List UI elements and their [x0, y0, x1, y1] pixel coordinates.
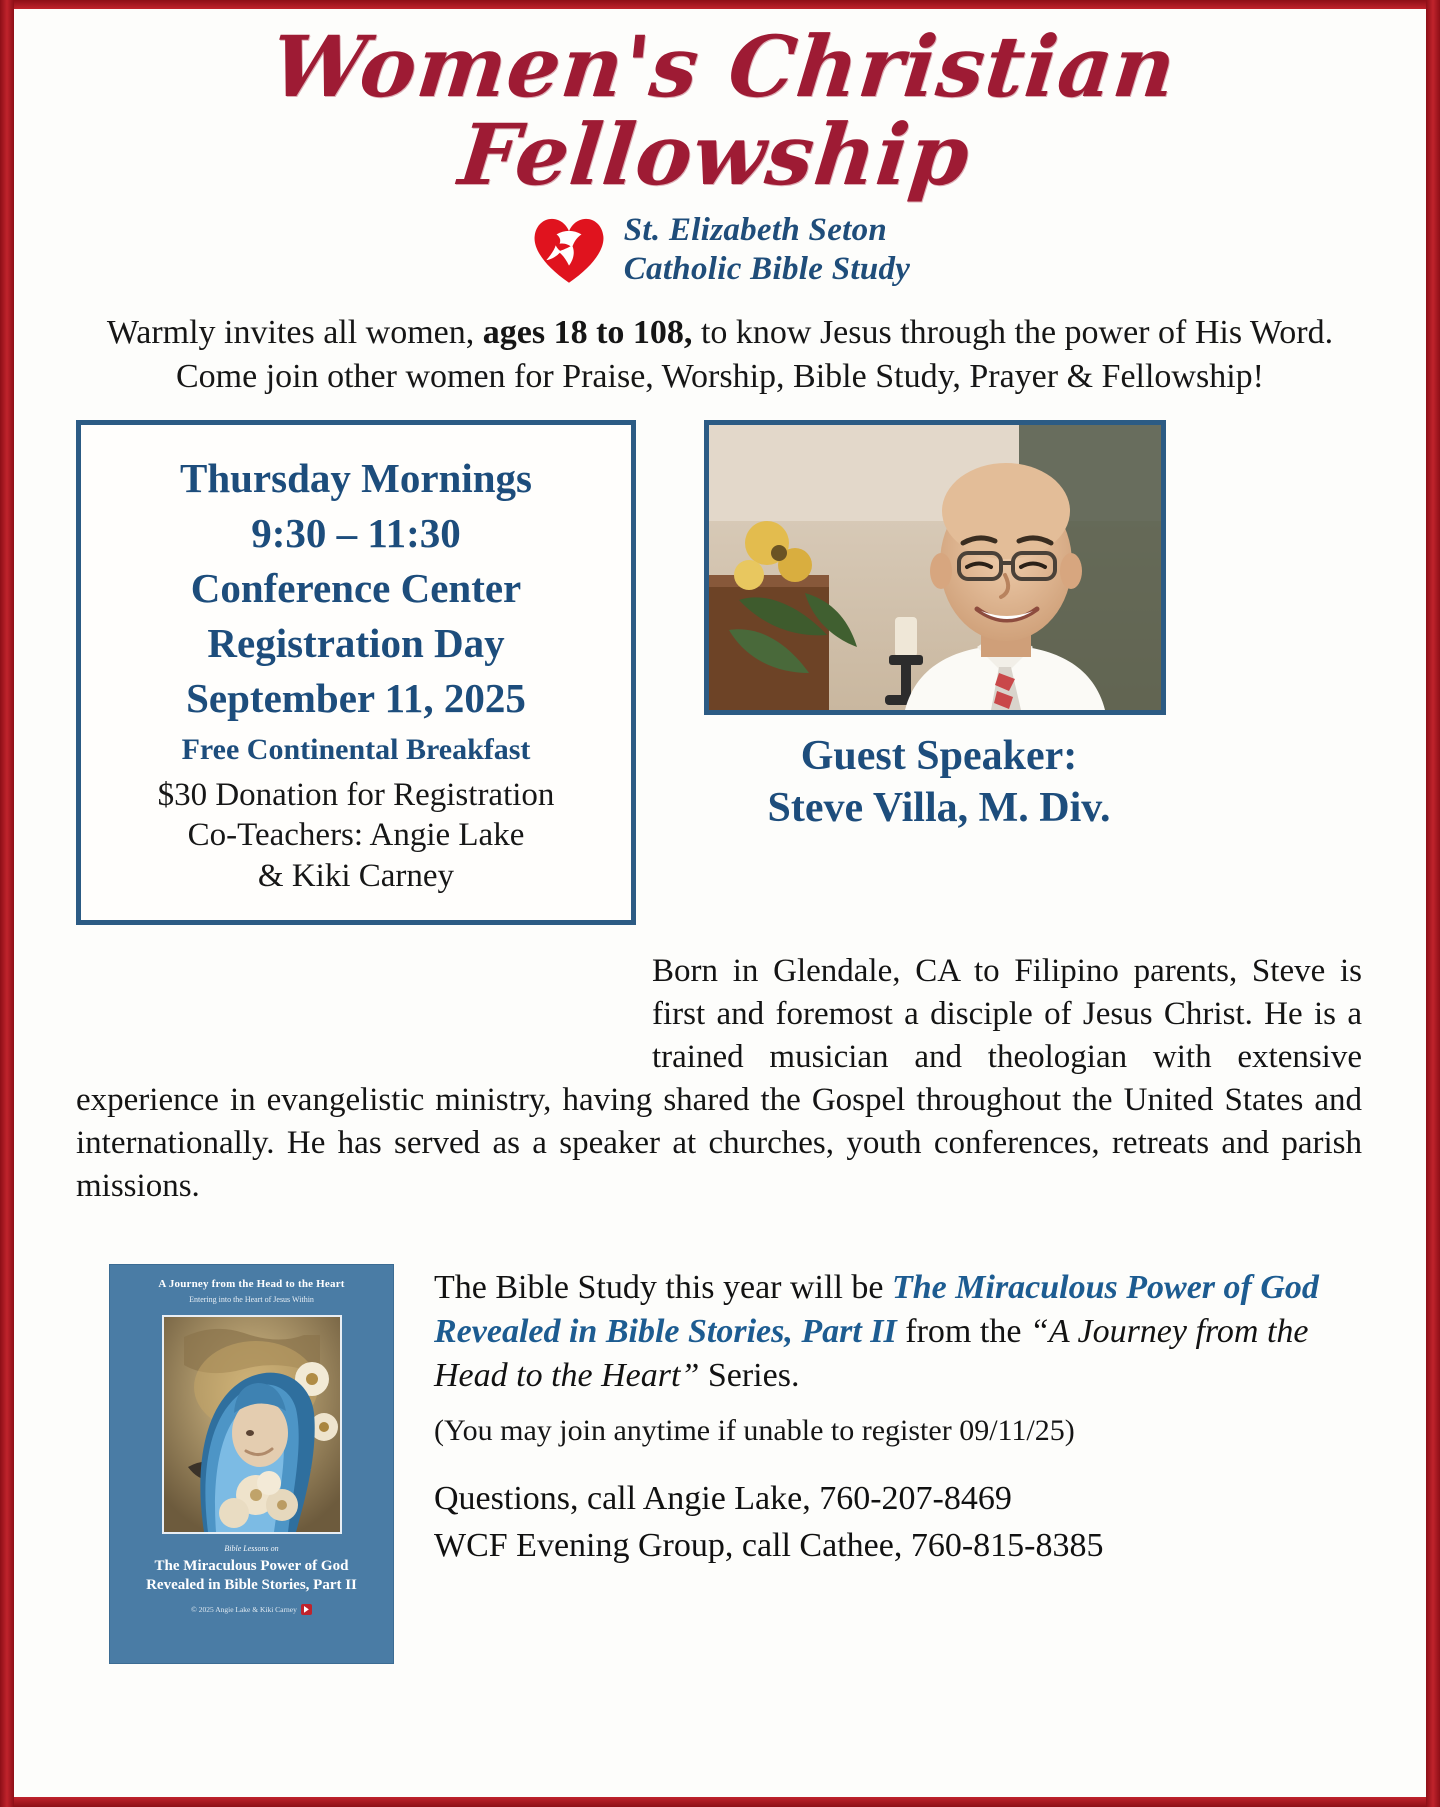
join-anytime-note: (You may join anytime if unable to regis… — [434, 1412, 1376, 1450]
org-line-1: St. Elizabeth Seton — [624, 211, 911, 250]
book-credit-text: © 2025 Angie Lake & Kiki Carney — [191, 1605, 297, 1614]
guest-speaker-name: Steve Villa, M. Div. — [704, 783, 1174, 834]
details-row: Thursday Mornings 9:30 – 11:30 Conferenc… — [14, 420, 1426, 950]
invite-ages-bold: ages 18 to 108, — [483, 314, 693, 351]
publisher-mark-icon — [301, 1604, 312, 1615]
registration-day-label: Registration Day — [81, 616, 631, 671]
border-right — [1426, 0, 1440, 1807]
contact-block: Questions, call Angie Lake, 760-207-8469… — [434, 1476, 1376, 1570]
guest-speaker-heading: Guest Speaker: — [704, 731, 1174, 782]
schedule-day: Thursday Mornings — [81, 451, 631, 506]
border-top — [0, 0, 1440, 9]
speaker-bio: Born in Glendale, CA to Filipino parents… — [76, 950, 1362, 1207]
schedule-time: 9:30 – 11:30 — [81, 506, 631, 561]
book-cover: A Journey from the Head to the Heart Ent… — [109, 1264, 394, 1664]
flyer-page: Women's Christian Fellowship St. Elizabe… — [0, 0, 1440, 1807]
border-bottom — [0, 1797, 1440, 1807]
study-tail: Series. — [699, 1357, 799, 1394]
flyer-title: Women's Christian Fellowship — [4, 9, 1436, 199]
co-teachers-line-1: Co-Teachers: Angie Lake — [81, 815, 631, 855]
contact-line-2: WCF Evening Group, call Cathee, 760-815-… — [434, 1523, 1376, 1570]
study-description: The Bible Study this year will be The Mi… — [434, 1266, 1376, 1399]
contact-line-1: Questions, call Angie Lake, 760-207-8469 — [434, 1476, 1376, 1523]
book-title-line-2: Revealed in Bible Stories, Part II — [119, 1576, 384, 1596]
book-title-line-1: The Miraculous Power of God — [119, 1557, 384, 1577]
registration-date: September 11, 2025 — [81, 671, 631, 726]
border-left — [0, 0, 14, 1807]
heart-dove-icon — [530, 211, 608, 289]
book-label: Bible Lessons on — [119, 1544, 384, 1553]
guest-speaker-block: Guest Speaker: Steve Villa, M. Div. — [704, 731, 1174, 833]
organization-name: St. Elizabeth Seton Catholic Bible Study — [624, 211, 911, 289]
organization-row: St. Elizabeth Seton Catholic Bible Study — [14, 211, 1426, 289]
study-mid: from the — [897, 1313, 1030, 1350]
org-line-2: Catholic Bible Study — [624, 250, 911, 289]
invite-part-1: Warmly invites all women, — [107, 314, 483, 351]
co-teachers-line-2: & Kiki Carney — [81, 856, 631, 896]
book-credit: © 2025 Angie Lake & Kiki Carney — [119, 1604, 384, 1615]
schedule-location: Conference Center — [81, 561, 631, 616]
study-and-contact: The Bible Study this year will be The Mi… — [434, 1266, 1376, 1570]
flyer-content: Women's Christian Fellowship St. Elizabe… — [14, 9, 1426, 1797]
book-top-subtitle: Entering into the Heart of Jesus Within — [119, 1295, 384, 1305]
bio-float-spacer — [76, 950, 652, 1070]
invitation-paragraph: Warmly invites all women, ages 18 to 108… — [84, 311, 1356, 398]
book-top-title: A Journey from the Head to the Heart — [119, 1278, 384, 1292]
study-lead: The Bible Study this year will be — [434, 1269, 892, 1306]
madonna-artwork — [162, 1315, 342, 1534]
speaker-photo — [704, 420, 1166, 715]
donation-note: $30 Donation for Registration — [81, 775, 631, 815]
bottom-section: A Journey from the Head to the Heart Ent… — [14, 1264, 1426, 1684]
breakfast-note: Free Continental Breakfast — [81, 730, 631, 769]
schedule-info-box: Thursday Mornings 9:30 – 11:30 Conferenc… — [76, 420, 636, 925]
speaker-column: Guest Speaker: Steve Villa, M. Div. — [704, 420, 1174, 833]
